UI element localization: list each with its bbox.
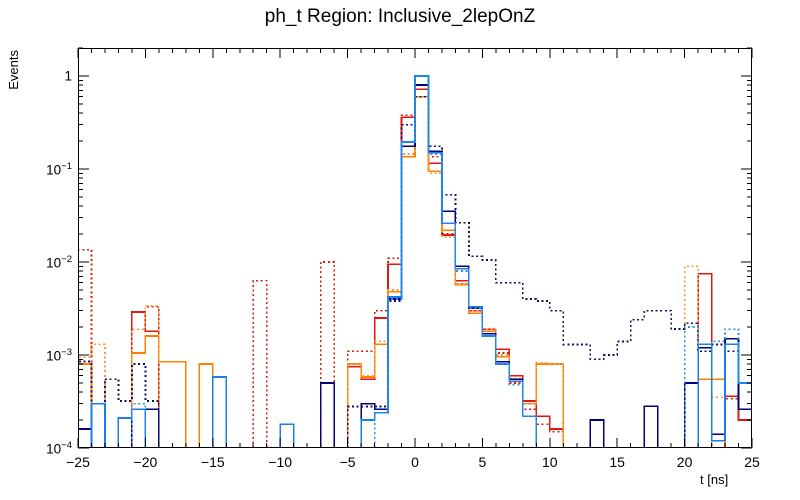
y-tick-label: 10−1: [46, 161, 72, 178]
plot-frame: [78, 48, 752, 448]
x-tick-label: −10: [268, 454, 292, 470]
x-tick-label: 5: [478, 454, 486, 470]
x-tick-label: 10: [542, 454, 558, 470]
x-tick-label: −5: [340, 454, 356, 470]
x-tick-label: 25: [744, 454, 760, 470]
x-tick-label: −25: [66, 454, 90, 470]
x-tick-label: −15: [201, 454, 225, 470]
y-tick-label: 10−3: [46, 347, 72, 364]
y-tick-label: 10−2: [46, 254, 72, 271]
plot-canvas: ph_t Region: Inclusive_2lepOnZ Events t …: [0, 0, 800, 500]
x-tick-label: 20: [677, 454, 693, 470]
y-tick-label: 1: [64, 68, 72, 83]
x-tick-label: 15: [609, 454, 625, 470]
x-tick-label: −20: [134, 454, 158, 470]
x-tick-label: 0: [411, 454, 419, 470]
